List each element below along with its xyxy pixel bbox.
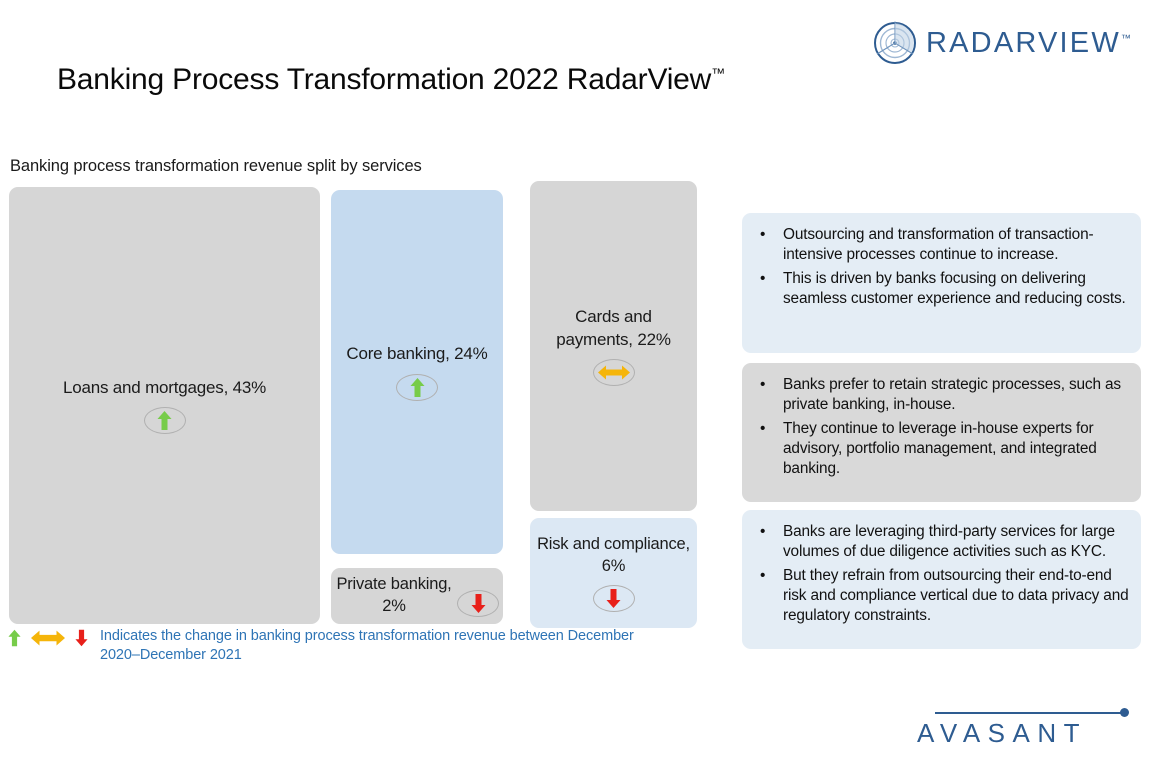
legend: Indicates the change in banking process … <box>8 627 660 664</box>
insight-list: •Banks prefer to retain strategic proces… <box>750 375 1129 479</box>
slide-canvas: RADARVIEW™ Banking Process Transformatio… <box>0 0 1152 768</box>
list-item-text: This is driven by banks focusing on deli… <box>783 270 1126 307</box>
list-item-text: They continue to leverage in-house exper… <box>783 420 1097 477</box>
radar-target-icon <box>872 20 918 66</box>
avasant-wordmark: AVASANT <box>917 718 1087 749</box>
bullet-icon: • <box>760 419 765 439</box>
list-item-text: Outsourcing and transformation of transa… <box>783 226 1093 263</box>
bullet-icon: • <box>760 225 765 245</box>
list-item: •Banks prefer to retain strategic proces… <box>750 375 1129 415</box>
arrow-up-icon <box>396 374 438 401</box>
list-item: •Outsourcing and transformation of trans… <box>750 225 1129 265</box>
arrow-up-icon <box>144 407 186 434</box>
trademark-symbol: ™ <box>711 65 725 81</box>
bullet-icon: • <box>760 522 765 542</box>
insight-list: •Banks are leveraging third-party servic… <box>750 522 1129 626</box>
arrow-down-icon <box>593 585 635 612</box>
list-item: •This is driven by banks focusing on del… <box>750 269 1129 309</box>
treemap-tile-risk-and-compliance[interactable]: Risk and compliance, 6% <box>530 518 697 628</box>
insight-list: •Outsourcing and transformation of trans… <box>750 225 1129 309</box>
avasant-rule <box>935 712 1121 714</box>
avasant-dot-icon <box>1120 708 1129 717</box>
avasant-logo: AVASANT <box>917 704 1129 752</box>
list-item-text: Banks are leveraging third-party service… <box>783 523 1115 560</box>
insight-callout-2: •Banks prefer to retain strategic proces… <box>742 363 1141 502</box>
list-item: •But they refrain from outsourcing their… <box>750 566 1129 626</box>
tile-label: Private banking, 2% <box>335 574 453 618</box>
page-title: Banking Process Transformation 2022 Rada… <box>57 63 725 97</box>
legend-icon-group <box>8 627 88 648</box>
trademark-symbol: ™ <box>1121 33 1131 44</box>
arrow-left-right-icon <box>31 630 65 646</box>
arrow-down-icon <box>457 590 499 617</box>
bullet-icon: • <box>760 375 765 395</box>
radarview-wordmark: RADARVIEW™ <box>926 27 1131 60</box>
arrow-down-icon <box>75 628 88 648</box>
insight-callout-3: •Banks are leveraging third-party servic… <box>742 510 1141 649</box>
tile-label: Loans and mortgages, 43% <box>57 377 272 399</box>
list-item-text: But they refrain from outsourcing their … <box>783 567 1129 624</box>
insight-callout-1: •Outsourcing and transformation of trans… <box>742 213 1141 353</box>
treemap-tile-loans-and-mortgages[interactable]: Loans and mortgages, 43% <box>9 187 320 624</box>
list-item: •Banks are leveraging third-party servic… <box>750 522 1129 562</box>
bullet-icon: • <box>760 566 765 586</box>
bullet-icon: • <box>760 269 765 289</box>
tile-label: Risk and compliance, 6% <box>530 534 697 578</box>
treemap-tile-core-banking[interactable]: Core banking, 24% <box>331 190 503 554</box>
treemap-tile-cards-and-payments[interactable]: Cards and payments, 22% <box>530 181 697 511</box>
tile-label: Cards and payments, 22% <box>530 306 697 351</box>
chart-subtitle: Banking process transformation revenue s… <box>10 157 422 176</box>
legend-text: Indicates the change in banking process … <box>100 627 660 664</box>
radarview-logo: RADARVIEW™ <box>872 20 1131 66</box>
arrow-left-right-icon <box>593 359 635 386</box>
treemap-tile-private-banking[interactable]: Private banking, 2% <box>331 568 503 624</box>
list-item: •They continue to leverage in-house expe… <box>750 419 1129 479</box>
list-item-text: Banks prefer to retain strategic process… <box>783 376 1121 413</box>
arrow-up-icon <box>8 628 21 648</box>
tile-label: Core banking, 24% <box>340 343 493 365</box>
